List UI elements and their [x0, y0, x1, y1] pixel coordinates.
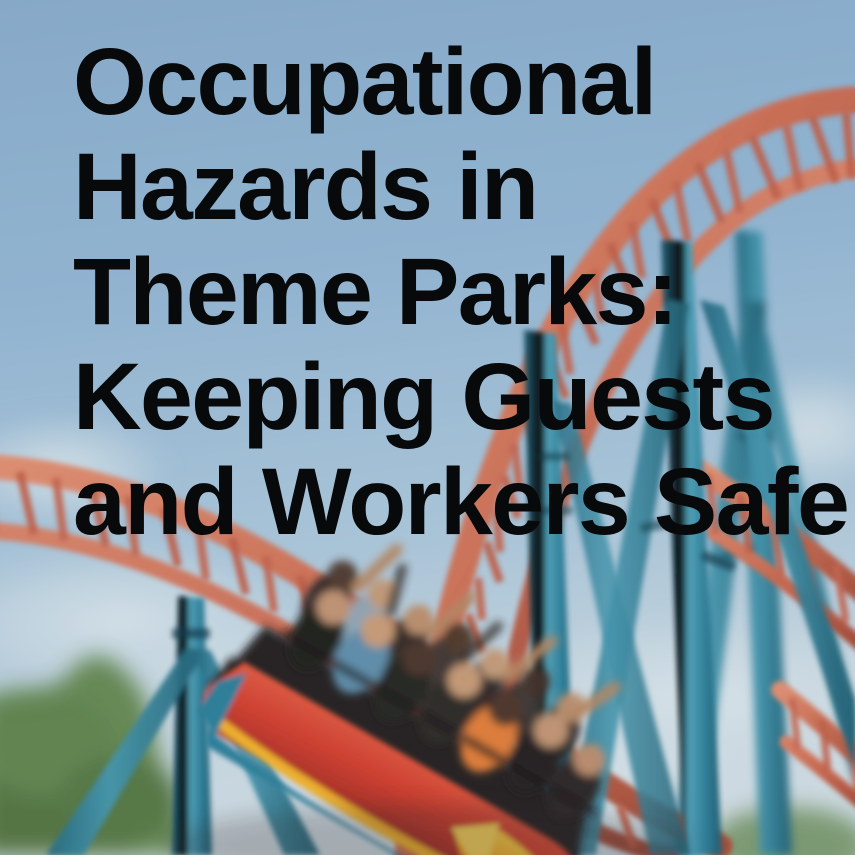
article-hero-poster: Occupational Hazards in Theme Parks: Kee… [0, 0, 855, 855]
coaster-photo-background [0, 0, 855, 855]
